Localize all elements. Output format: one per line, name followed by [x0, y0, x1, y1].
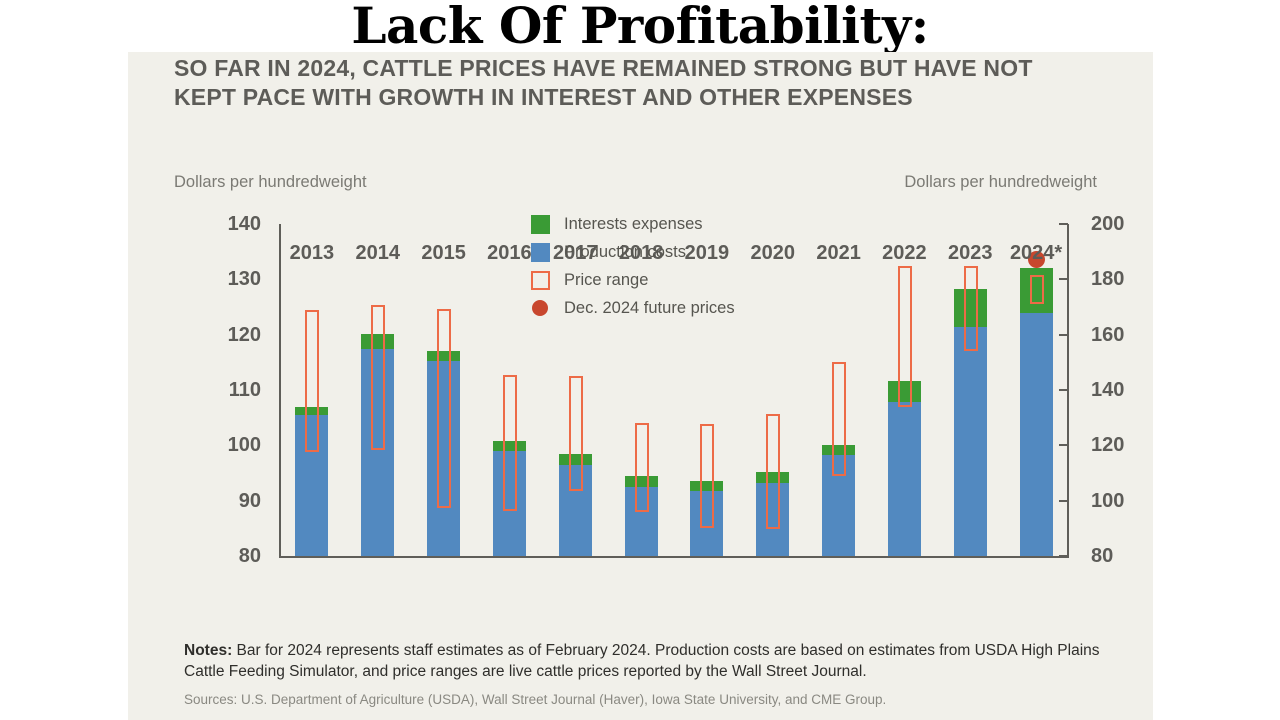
price-range-box: [898, 266, 912, 407]
price-range-box: [964, 266, 978, 351]
chart-sources: Sources: U.S. Department of Agriculture …: [184, 691, 1113, 709]
chart-notes: Notes: Bar for 2024 represents staff est…: [184, 640, 1113, 682]
y-axis-left-tick-label: 130: [228, 269, 261, 289]
y-axis-right-tick-label: 120: [1091, 435, 1124, 455]
notes-text: Bar for 2024 represents staff estimates …: [184, 642, 1100, 680]
bar-group-2016[interactable]: [493, 224, 526, 556]
price-range-box: [766, 414, 780, 530]
price-range-box: [371, 305, 385, 450]
legend-swatch-range-icon: [531, 271, 550, 290]
price-range-box: [503, 375, 517, 511]
chart-legend: Interests expensesProduction costsPrice …: [531, 210, 861, 322]
legend-swatch-future-icon: [532, 300, 548, 316]
y-axis-right-tick-mark: [1059, 223, 1068, 225]
price-range-box: [832, 362, 846, 476]
legend-label: Dec. 2024 future prices: [564, 299, 735, 318]
slide-title: Lack Of Profitability:: [0, 0, 1280, 54]
legend-label: Interests expenses: [564, 215, 703, 234]
y-axis-right-tick-label: 200: [1091, 214, 1124, 234]
y-axis-left-tick-label: 90: [239, 491, 261, 511]
bar-group-2015[interactable]: [427, 224, 460, 556]
bar-group-2013[interactable]: [295, 224, 328, 556]
bar-group-2023[interactable]: [954, 224, 987, 556]
x-axis-tick-label: 2016: [487, 242, 532, 265]
legend-label: Price range: [564, 271, 648, 290]
price-range-box: [569, 376, 583, 492]
price-range-box: [305, 310, 319, 452]
y-axis-right-tick-mark: [1059, 334, 1068, 336]
bar-segment-production-costs: [1020, 313, 1053, 556]
x-axis-tick-label: 2022: [882, 242, 927, 265]
legend-swatch-interest-icon: [531, 215, 550, 234]
bar-group-2022[interactable]: [888, 224, 921, 556]
price-range-box: [1030, 275, 1044, 304]
slide-root: Lack Of Profitability: So far in 2024, c…: [0, 0, 1280, 720]
y-axis-left-tick-label: 120: [228, 325, 261, 345]
x-axis-tick-label: 2023: [948, 242, 993, 265]
price-range-box: [635, 423, 649, 512]
price-range-box: [700, 424, 714, 529]
x-axis-tick-label: 2013: [290, 242, 335, 265]
chart-headline: So far in 2024, cattle prices have remai…: [174, 54, 1074, 112]
notes-label: Notes:: [184, 642, 232, 659]
y-axis-right-tick-mark: [1059, 389, 1068, 391]
chart-panel: So far in 2024, cattle prices have remai…: [128, 52, 1153, 720]
bar-group-2024[interactable]: [1020, 224, 1053, 556]
y-axis-right-tick-mark: [1059, 444, 1068, 446]
bar-group-2014[interactable]: [361, 224, 394, 556]
legend-swatch-production-icon: [531, 243, 550, 262]
bar-segment-production-costs: [954, 327, 987, 556]
left-axis-unit-label: Dollars per hundredweight: [174, 173, 367, 192]
y-axis-right-tick-label: 140: [1091, 380, 1124, 400]
legend-label: Production costs: [564, 243, 686, 262]
right-axis-unit-label: Dollars per hundredweight: [904, 173, 1097, 192]
bottom-axis-line: [279, 556, 1069, 558]
x-axis-tick-label: 2015: [421, 242, 466, 265]
y-axis-right-tick-label: 100: [1091, 491, 1124, 511]
x-axis-tick-label: 2014: [356, 242, 401, 265]
legend-item-future[interactable]: Dec. 2024 future prices: [531, 294, 861, 322]
legend-item-production[interactable]: Production costs: [531, 238, 861, 266]
y-axis-right-tick-mark: [1059, 278, 1068, 280]
y-axis-left-tick-label: 100: [228, 435, 261, 455]
y-axis-right-tick-label: 160: [1091, 325, 1124, 345]
price-range-box: [437, 309, 451, 508]
y-axis-right-tick-mark: [1059, 500, 1068, 502]
y-axis-right-tick-label: 80: [1091, 546, 1113, 566]
bar-segment-production-costs: [888, 402, 921, 556]
y-axis-right-tick-mark: [1059, 555, 1068, 557]
legend-item-range[interactable]: Price range: [531, 266, 861, 294]
y-axis-left-tick-label: 140: [228, 214, 261, 234]
left-axis-line: [279, 224, 281, 556]
y-axis-right-tick-label: 180: [1091, 269, 1124, 289]
y-axis-left-tick-label: 110: [229, 380, 261, 400]
x-axis-tick-label: 2024*: [1010, 242, 1062, 265]
legend-item-interest[interactable]: Interests expenses: [531, 210, 861, 238]
y-axis-left-tick-label: 80: [239, 546, 261, 566]
